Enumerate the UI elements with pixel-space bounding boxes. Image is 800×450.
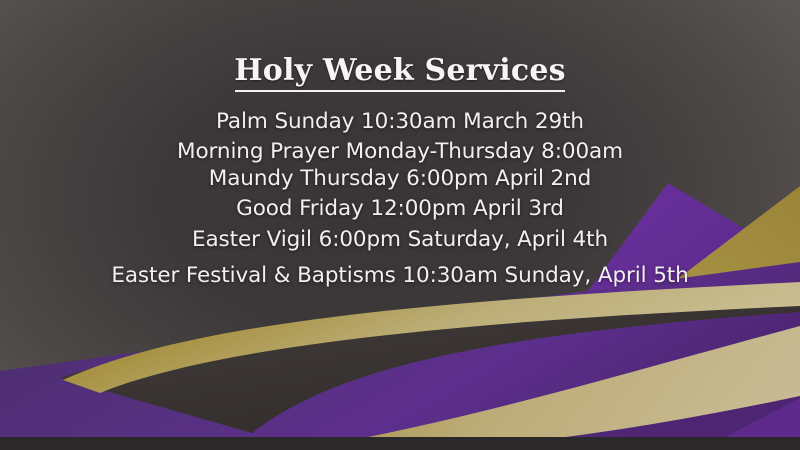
service-schedule-list: Palm Sunday 10:30am March 29th Morning P… (0, 106, 800, 291)
page-title: Holy Week Services (234, 54, 566, 92)
slide-content: Holy Week Services Palm Sunday 10:30am M… (0, 0, 800, 450)
list-item: Palm Sunday 10:30am March 29th (0, 106, 800, 138)
list-item: Easter Festival & Baptisms 10:30am Sunda… (0, 260, 800, 292)
list-item: Maundy Thursday 6:00pm April 2nd (0, 165, 800, 193)
list-item: Easter Vigil 6:00pm Saturday, April 4th (0, 224, 800, 256)
presentation-slide: Holy Week Services Palm Sunday 10:30am M… (0, 0, 800, 450)
list-item: Good Friday 12:00pm April 3rd (0, 193, 800, 225)
list-item: Morning Prayer Monday-Thursday 8:00am (0, 138, 800, 166)
title-row: Holy Week Services (0, 54, 800, 106)
